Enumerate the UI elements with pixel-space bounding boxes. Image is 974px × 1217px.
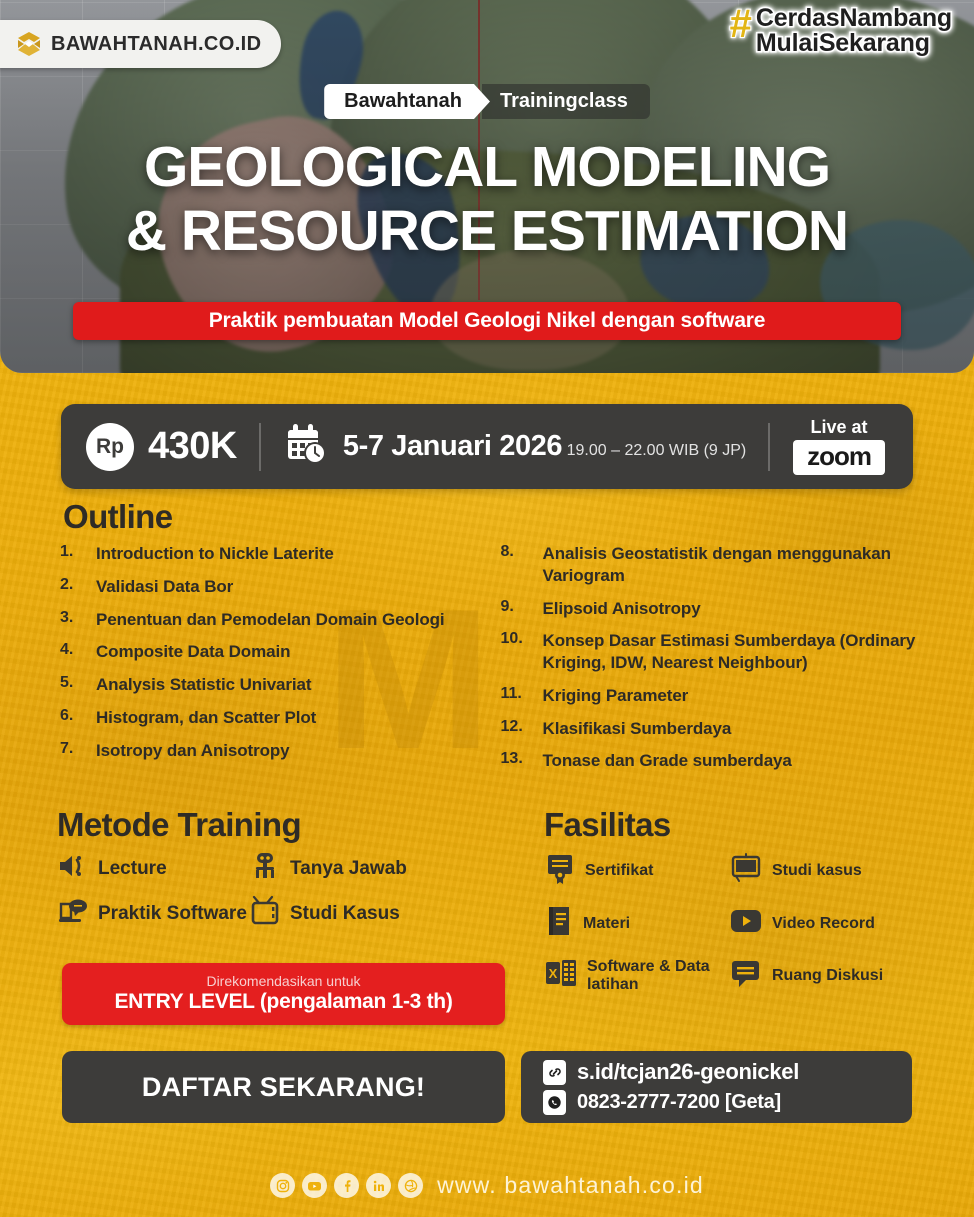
brand-logo-pill[interactable]: BAWAHTANAH.CO.ID bbox=[0, 20, 281, 68]
website-url[interactable]: www. bawahtanah.co.id bbox=[437, 1172, 704, 1199]
fasilitas-item-sertifikat: Sertifikat bbox=[545, 852, 730, 889]
outline-number: 12. bbox=[501, 718, 533, 740]
outline-text: Tonase dan Grade sumberdaya bbox=[543, 750, 792, 772]
divider-1 bbox=[259, 423, 261, 471]
fasilitas-item-materi: Materi bbox=[545, 905, 730, 942]
fasilitas-item-ruang-diskusi: Ruang Diskusi bbox=[730, 958, 955, 994]
event-date: 5-7 Januari 2026 bbox=[343, 430, 562, 462]
program-badges: Bawahtanah Trainingclass bbox=[0, 84, 974, 119]
registration-link[interactable]: s.id/tcjan26-geonickel bbox=[577, 1059, 799, 1085]
outline-item: 9. Elipsoid Anisotropy bbox=[501, 598, 950, 620]
metode-label: Lecture bbox=[98, 859, 167, 879]
outline-number: 13. bbox=[501, 750, 533, 772]
certificate-icon bbox=[545, 852, 575, 889]
currency-badge: Rp bbox=[86, 423, 134, 471]
outline-number: 1. bbox=[60, 543, 86, 565]
title-line-1: GEOLOGICAL MODELING bbox=[0, 140, 974, 195]
facebook-icon[interactable] bbox=[334, 1173, 359, 1198]
register-button[interactable]: DAFTAR SEKARANG! bbox=[62, 1051, 505, 1123]
entry-level-banner: Direkomendasikan untuk ENTRY LEVEL (peng… bbox=[62, 963, 505, 1025]
tv-icon bbox=[249, 895, 281, 932]
hero-header: BAWAHTANAH.CO.ID # CerdasNambang MulaiSe… bbox=[0, 0, 974, 373]
outline-number: 3. bbox=[60, 609, 86, 631]
hash-symbol-icon: # bbox=[730, 6, 752, 43]
fasilitas-item-software-data: X Software & Data latihan bbox=[545, 958, 730, 994]
info-bar: Rp 430K bbox=[61, 404, 913, 489]
price-group: Rp 430K bbox=[61, 423, 237, 471]
fasilitas-label: Video Record bbox=[772, 915, 875, 933]
poster-title: GEOLOGICAL MODELING & RESOURCE ESTIMATIO… bbox=[0, 140, 974, 258]
fasilitas-items: Sertifikat Studi kasus bbox=[545, 852, 955, 994]
youtube-icon[interactable] bbox=[302, 1173, 327, 1198]
outline-item: 6. Histogram, dan Scatter Plot bbox=[60, 707, 485, 729]
price-amount: 430K bbox=[148, 425, 237, 468]
bawahtanah-diamond-logo-icon bbox=[16, 30, 42, 58]
contact-link-row[interactable]: s.id/tcjan26-geonickel bbox=[543, 1059, 912, 1085]
outline-item: 1. Introduction to Nickle Laterite bbox=[60, 543, 485, 565]
svg-text:X: X bbox=[549, 966, 558, 981]
fasilitas-item-video-record: Video Record bbox=[730, 905, 955, 942]
outline-number: 11. bbox=[501, 685, 533, 707]
title-line-2: & RESOURCE ESTIMATION bbox=[0, 204, 974, 259]
campaign-hashtag: # CerdasNambang MulaiSekarang bbox=[730, 6, 952, 56]
fasilitas-label: Sertifikat bbox=[585, 862, 653, 880]
metode-label: Studi Kasus bbox=[290, 904, 400, 924]
outline-text: Validasi Data Bor bbox=[96, 576, 233, 598]
poster-root: M bbox=[0, 0, 974, 1217]
fasilitas-label: Materi bbox=[583, 915, 630, 933]
outline-item: 4. Composite Data Domain bbox=[60, 641, 485, 663]
live-at-label: Live at bbox=[793, 418, 885, 438]
excel-file-icon: X bbox=[545, 958, 577, 993]
fasilitas-label: Ruang Diskusi bbox=[772, 967, 883, 985]
metode-item-studi-kasus: Studi Kasus bbox=[249, 895, 517, 932]
outline-text: Introduction to Nickle Laterite bbox=[96, 543, 334, 565]
outline-text: Analysis Statistic Univariat bbox=[96, 674, 311, 696]
outline-item: 10. Konsep Dasar Estimasi Sumberdaya (Or… bbox=[501, 630, 950, 674]
metode-section-title: Metode Training bbox=[57, 806, 301, 844]
date-group: 5-7 Januari 2026 19.00 – 22.00 WIB (9 JP… bbox=[283, 421, 746, 472]
contact-panel: s.id/tcjan26-geonickel 0823-2777-7200 [G… bbox=[521, 1051, 912, 1123]
laptop-chat-icon bbox=[57, 895, 89, 932]
entry-level-title: ENTRY LEVEL (pengalaman 1-3 th) bbox=[114, 989, 452, 1014]
outline-number: 4. bbox=[60, 641, 86, 663]
metode-items: Lecture Tanya Jawab bbox=[57, 850, 517, 932]
metode-item-tanya-jawab: Tanya Jawab bbox=[249, 850, 517, 887]
outline-item: 12. Klasifikasi Sumberdaya bbox=[501, 718, 950, 740]
brand-logo-text: BAWAHTANAH.CO.ID bbox=[51, 33, 261, 56]
outline-text: Analisis Geostatistik dengan menggunakan… bbox=[543, 543, 950, 587]
speaker-icon bbox=[57, 851, 89, 886]
platform-group: Live at zoom bbox=[793, 418, 913, 476]
footer: www. bawahtanah.co.id bbox=[0, 1172, 974, 1199]
outline-columns: 1. Introduction to Nickle Laterite 2. Va… bbox=[60, 543, 950, 783]
fasilitas-label: Studi kasus bbox=[772, 862, 862, 880]
fasilitas-section-title: Fasilitas bbox=[544, 806, 671, 844]
outline-text: Konsep Dasar Estimasi Sumberdaya (Ordina… bbox=[543, 630, 950, 674]
outline-number: 2. bbox=[60, 576, 86, 598]
calendar-clock-icon bbox=[283, 421, 329, 472]
badge-bawahtanah: Bawahtanah bbox=[324, 84, 490, 119]
book-icon bbox=[545, 905, 573, 942]
hashtag-line-2: MulaiSekarang bbox=[756, 31, 952, 56]
divider-2 bbox=[768, 423, 770, 471]
outline-number: 7. bbox=[60, 740, 86, 762]
subtitle-text: Praktik pembuatan Model Geologi Nikel de… bbox=[209, 309, 766, 333]
outline-section-title: Outline bbox=[63, 498, 172, 536]
zoom-logo: zoom bbox=[793, 440, 885, 475]
social-links bbox=[270, 1173, 423, 1198]
subtitle-ribbon: Praktik pembuatan Model Geologi Nikel de… bbox=[73, 302, 901, 340]
outline-number: 6. bbox=[60, 707, 86, 729]
youtube-play-icon bbox=[730, 909, 762, 938]
outline-column-left: 1. Introduction to Nickle Laterite 2. Va… bbox=[60, 543, 485, 783]
qa-robot-icon bbox=[249, 850, 281, 887]
contact-phone-row[interactable]: 0823-2777-7200 [Geta] bbox=[543, 1090, 912, 1115]
outline-item: 3. Penentuan dan Pemodelan Domain Geolog… bbox=[60, 609, 485, 631]
outline-item: 5. Analysis Statistic Univariat bbox=[60, 674, 485, 696]
outline-item: 13. Tonase dan Grade sumberdaya bbox=[501, 750, 950, 772]
outline-text: Klasifikasi Sumberdaya bbox=[543, 718, 732, 740]
metode-label: Praktik Software bbox=[98, 904, 247, 924]
outline-item: 11. Kriging Parameter bbox=[501, 685, 950, 707]
metode-label: Tanya Jawab bbox=[290, 859, 407, 879]
contact-phone[interactable]: 0823-2777-7200 [Geta] bbox=[577, 1091, 781, 1114]
outline-text: Isotropy dan Anisotropy bbox=[96, 740, 290, 762]
metode-item-lecture: Lecture bbox=[57, 850, 249, 887]
outline-item: 7. Isotropy dan Anisotropy bbox=[60, 740, 485, 762]
hashtag-line-1: CerdasNambang bbox=[756, 6, 952, 31]
entry-level-subtitle: Direkomendasikan untuk bbox=[206, 974, 360, 989]
whiteboard-icon bbox=[730, 853, 762, 888]
outline-number: 9. bbox=[501, 598, 533, 620]
outline-column-right: 8. Analisis Geostatistik dengan mengguna… bbox=[501, 543, 950, 783]
link-icon bbox=[543, 1060, 566, 1085]
fasilitas-label: Software & Data latihan bbox=[587, 958, 730, 994]
badge-trainingclass: Trainingclass bbox=[482, 84, 650, 119]
chat-bubble-icon bbox=[730, 958, 762, 993]
outline-item: 2. Validasi Data Bor bbox=[60, 576, 485, 598]
instagram-icon[interactable] bbox=[270, 1173, 295, 1198]
register-button-label: DAFTAR SEKARANG! bbox=[142, 1072, 425, 1103]
linkedin-icon[interactable] bbox=[366, 1173, 391, 1198]
event-time: 19.00 – 22.00 WIB (9 JP) bbox=[567, 442, 747, 459]
outline-text: Composite Data Domain bbox=[96, 641, 290, 663]
outline-number: 5. bbox=[60, 674, 86, 696]
outline-text: Penentuan dan Pemodelan Domain Geologi bbox=[96, 609, 445, 631]
fasilitas-item-studi-kasus: Studi kasus bbox=[730, 852, 955, 889]
outline-item: 8. Analisis Geostatistik dengan mengguna… bbox=[501, 543, 950, 587]
metode-item-praktik-software: Praktik Software bbox=[57, 895, 249, 932]
outline-number: 8. bbox=[501, 543, 533, 587]
whatsapp-icon bbox=[543, 1090, 566, 1115]
outline-text: Histogram, dan Scatter Plot bbox=[96, 707, 316, 729]
outline-text: Elipsoid Anisotropy bbox=[543, 598, 701, 620]
tiktok-icon[interactable] bbox=[398, 1173, 423, 1198]
outline-text: Kriging Parameter bbox=[543, 685, 689, 707]
outline-number: 10. bbox=[501, 630, 533, 674]
